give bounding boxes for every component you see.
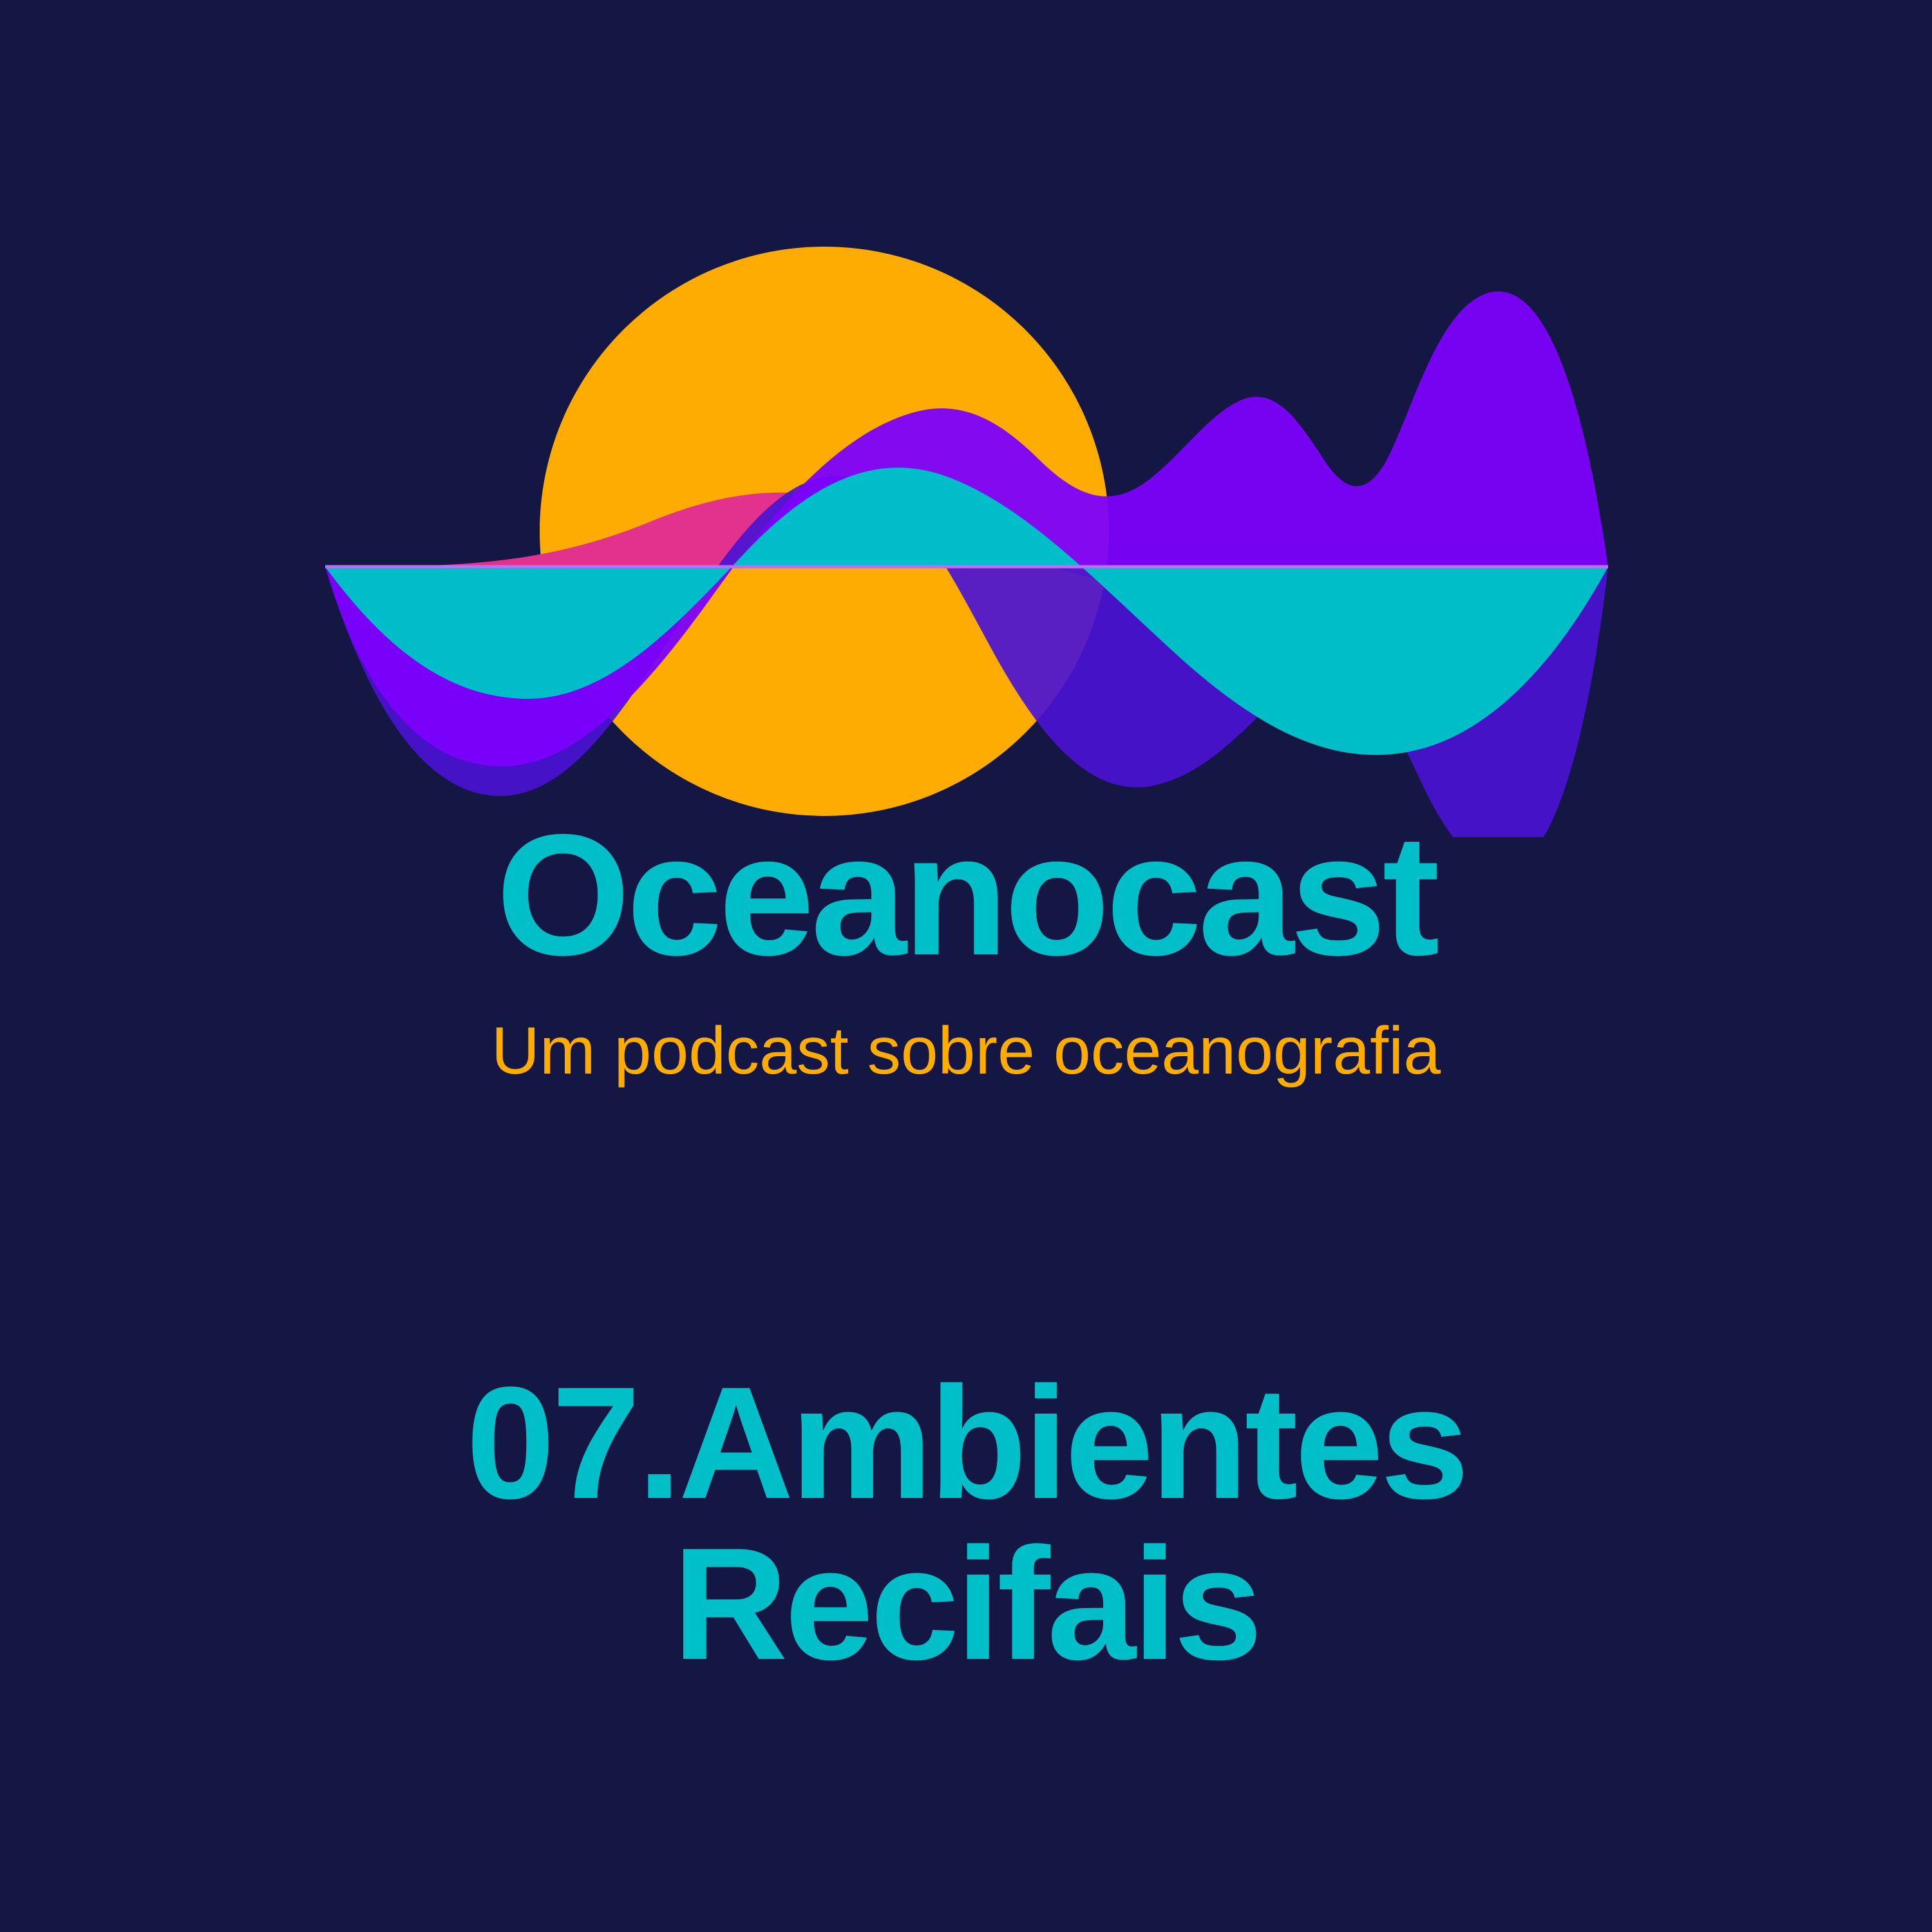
episode-title-line-2: Recifais bbox=[97, 1523, 1835, 1684]
podcast-wordmark: Oceanocast bbox=[0, 808, 1932, 981]
artwork-illustration bbox=[0, 0, 1932, 837]
podcast-cover-art: Oceanocast Um podcast sobre oceanografia… bbox=[0, 0, 1932, 1932]
episode-title: 07.Ambientes Recifais bbox=[97, 1362, 1835, 1684]
podcast-tagline: Um podcast sobre oceanografia bbox=[0, 1018, 1932, 1084]
episode-title-line-1: 07.Ambientes bbox=[97, 1362, 1835, 1523]
